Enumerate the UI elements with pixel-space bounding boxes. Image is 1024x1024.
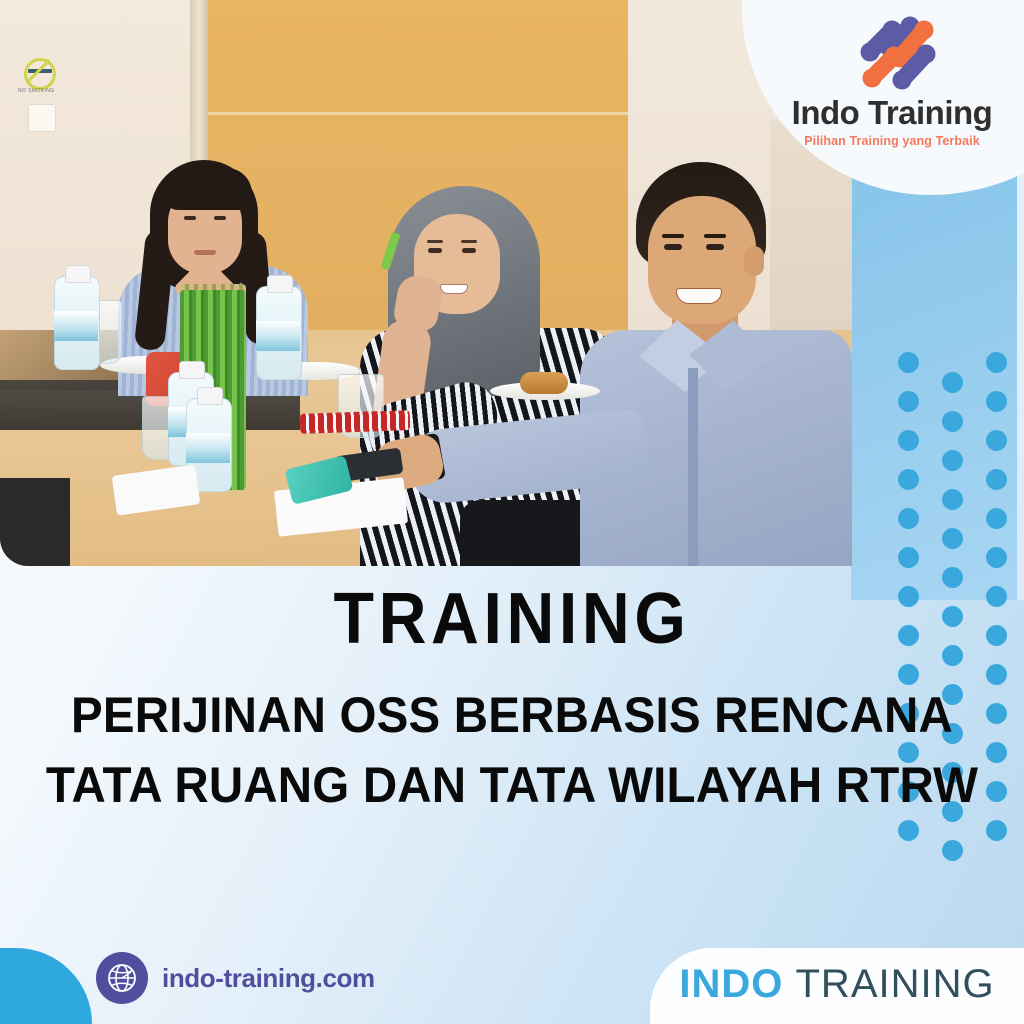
decorative-dot bbox=[898, 391, 919, 412]
decorative-dot bbox=[986, 820, 1007, 841]
decorative-dot bbox=[942, 840, 963, 861]
decorative-dot bbox=[898, 352, 919, 373]
no-smoking-sign: NO SMOKING bbox=[18, 58, 74, 102]
subtitle-line-2: TATA RUANG DAN TATA WILAYAH RTRW bbox=[26, 756, 999, 814]
decorative-dot bbox=[898, 547, 919, 568]
page-title: TRAINING bbox=[41, 578, 983, 660]
decorative-dot bbox=[942, 528, 963, 549]
decorative-dot bbox=[898, 664, 919, 685]
decorative-dot bbox=[986, 391, 1007, 412]
training-poster: NO SMOKING bbox=[0, 0, 1024, 1024]
website-text: indo-training.com bbox=[162, 963, 375, 994]
connected-nodes-icon bbox=[858, 12, 938, 90]
training-session-photo: NO SMOKING bbox=[0, 0, 852, 566]
decorative-dot bbox=[986, 625, 1007, 646]
decorative-dot bbox=[898, 820, 919, 841]
light-switch bbox=[28, 104, 56, 132]
logo-tagline: Pilihan Training yang Terbaik bbox=[772, 134, 1012, 148]
decorative-dot bbox=[898, 469, 919, 490]
decorative-dot bbox=[986, 664, 1007, 685]
subtitle-line-1: PERIJINAN OSS BERBASIS RENCANA bbox=[26, 686, 999, 744]
globe-icon bbox=[96, 952, 148, 1004]
decorative-dot bbox=[986, 352, 1007, 373]
footer-brand-indo: INDO bbox=[679, 962, 783, 1006]
footer-brand: INDO TRAINING bbox=[650, 962, 1024, 1007]
decorative-dot bbox=[986, 469, 1007, 490]
footer-brand-training: TRAINING bbox=[796, 962, 995, 1006]
decorative-dot bbox=[942, 411, 963, 432]
decorative-dot bbox=[986, 430, 1007, 451]
decorative-dot bbox=[942, 450, 963, 471]
decorative-dot bbox=[986, 508, 1007, 529]
decorative-dot bbox=[898, 508, 919, 529]
footer-brand-panel: INDO TRAINING bbox=[650, 948, 1024, 1024]
decorative-dot bbox=[898, 430, 919, 451]
footer-corner-accent bbox=[0, 948, 92, 1024]
decorative-dot bbox=[942, 489, 963, 510]
logo-wordmark: Indo Training bbox=[772, 94, 1012, 132]
decorative-dot bbox=[986, 586, 1007, 607]
decorative-dot bbox=[986, 547, 1007, 568]
website-link[interactable]: indo-training.com bbox=[96, 950, 375, 1006]
decorative-dot bbox=[942, 372, 963, 393]
indo-training-logo: Indo Training Pilihan Training yang Terb… bbox=[772, 8, 1012, 160]
